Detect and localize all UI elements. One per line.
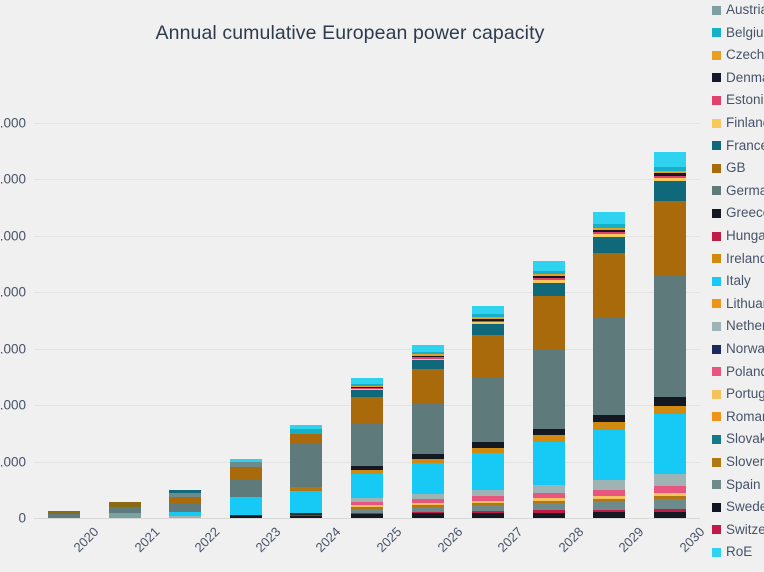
plot-area [34,66,700,518]
bar-segment-france[interactable] [533,283,565,297]
legend-label: Portugal [726,386,764,402]
x-axis-tick-label-2029: 2029 [616,524,647,555]
legend-item-germany[interactable]: Germany [712,183,764,199]
legend-item-greece[interactable]: Greece [712,205,764,221]
legend-swatch-icon [712,209,721,218]
bar-segment-netherlands[interactable] [593,480,625,490]
bar-segment-roe[interactable] [472,306,504,314]
bar-segment-germany[interactable] [593,317,625,415]
bar-segment-gb[interactable] [290,434,322,444]
legend-item-portugal[interactable]: Portugal [712,386,764,402]
bar-segment-germany[interactable] [654,276,686,397]
legend-swatch-icon [712,254,721,263]
bar-segment-germany[interactable] [472,378,504,442]
bar-segment-italy[interactable] [533,442,565,485]
legend-item-switzerland[interactable]: Switzerland [712,522,764,538]
bar-2029[interactable] [593,196,625,518]
bar-segment-ireland[interactable] [654,406,686,415]
legend-label: Austria [726,2,764,18]
bar-segment-netherlands[interactable] [472,490,504,497]
legend-label: Germany [726,183,764,199]
legend-swatch-icon [712,28,721,37]
bar-segment-france[interactable] [593,237,625,253]
bar-segment-italy[interactable] [472,453,504,489]
legend-label: Italy [726,273,751,289]
legend-label: Hungary [726,228,764,244]
legend-item-estonia[interactable]: Estonia [712,92,764,108]
legend-item-gb[interactable]: GB [712,160,746,176]
legend-swatch-icon [712,322,721,331]
legend-item-denmark[interactable]: Denmark [712,70,764,86]
bar-2028[interactable] [533,251,565,518]
legend-item-ireland[interactable]: Ireland [712,251,764,267]
legend-swatch-icon [712,458,721,467]
legend-item-hungary[interactable]: Hungary [712,228,764,244]
legend-label: Romania [726,409,764,425]
x-axis-tick-label-2028: 2028 [555,524,586,555]
legend-item-slovakia[interactable]: Slovakia [712,431,764,447]
legend-swatch-icon [712,186,721,195]
legend-label: Ireland [726,251,764,267]
x-axis-tick-label-2024: 2024 [313,524,344,555]
bar-segment-roe[interactable] [533,261,565,271]
legend-item-roe[interactable]: RoE [712,544,752,560]
bar-2020[interactable] [48,511,80,518]
bar-2021[interactable] [109,502,141,518]
bar-segment-france[interactable] [472,324,504,335]
legend-swatch-icon [712,164,721,173]
x-axis-tick-label-2027: 2027 [495,524,526,555]
bar-segment-roe[interactable] [412,345,444,352]
legend-label: France [726,138,764,154]
bar-segment-germany[interactable] [533,349,565,429]
legend-item-norway[interactable]: Norway [712,341,764,357]
bar-segment-germany[interactable] [290,444,322,487]
y-axis-tick-label: 0 [18,511,26,526]
x-axis-tick-label-2026: 2026 [434,524,465,555]
bar-segment-roe[interactable] [593,212,625,224]
bar-segment-netherlands[interactable] [533,485,565,493]
bar-2026[interactable] [412,345,444,518]
legend-swatch-icon [712,480,721,489]
bar-segment-ireland[interactable] [593,422,625,430]
bar-2022[interactable] [169,490,201,518]
legend-label: Estonia [726,92,764,108]
legend-item-italy[interactable]: Italy [712,273,751,289]
bar-segment-germany[interactable] [351,423,383,466]
x-axis-tick-label-2020: 2020 [71,524,102,555]
legend-swatch-icon [712,503,721,512]
y-axis: 01.0002.0003.0004.0005.0006.0007.000 [0,66,30,518]
legend-item-france[interactable]: France [712,138,764,154]
bar-2024[interactable] [290,425,322,518]
bar-segment-italy[interactable] [351,474,383,498]
bar-segment-italy[interactable] [412,463,444,494]
y-axis-tick-label: 6.000 [0,172,26,187]
legend-item-poland[interactable]: Poland [712,364,764,380]
bar-segment-france[interactable] [654,181,686,200]
legend-swatch-icon [712,390,721,399]
legend-label: Greece [726,205,764,221]
bar-segment-spain[interactable] [533,503,565,510]
legend-label: Poland [726,364,764,380]
chart-title: Annual cumulative European power capacit… [0,22,700,45]
legend-item-spain[interactable]: Spain [712,477,761,493]
y-axis-tick-label: 4.000 [0,285,26,300]
bar-segment-poland[interactable] [654,486,686,493]
bar-segment-gb[interactable] [230,467,262,478]
x-axis-tick-label-2022: 2022 [192,524,223,555]
legend-swatch-icon [712,412,721,421]
bar-segment-netherlands[interactable] [654,474,686,486]
legend-label: Belgium [726,25,764,41]
bar-2030[interactable] [654,124,686,518]
legend-label: Switzerland [726,522,764,538]
legend-swatch-icon [712,119,721,128]
legend-item-sweden[interactable]: Sweden [712,499,764,515]
legend-swatch-icon [712,141,721,150]
legend-item-lithuania[interactable]: Lithuania [712,296,764,312]
bar-segment-italy[interactable] [230,497,262,515]
legend-swatch-icon [712,277,721,286]
legend-swatch-icon [712,299,721,308]
legend-swatch-icon [712,6,721,15]
legend-label: Slovakia [726,431,764,447]
legend-swatch-icon [712,548,721,557]
bar-segment-ireland[interactable] [533,435,565,442]
legend-label: Denmark [726,70,764,86]
x-axis-tick-label-2025: 2025 [373,524,404,555]
bar-segment-greece[interactable] [654,397,686,405]
legend-swatch-icon [712,435,721,444]
legend-item-romania[interactable]: Romania [712,409,764,425]
legend-swatch-icon [712,96,721,105]
legend-label: Sweden [726,499,764,515]
bar-segment-germany[interactable] [412,403,444,454]
bar-segment-gb[interactable] [412,369,444,403]
legend-swatch-icon [712,232,721,241]
bar-segment-greece[interactable] [593,415,625,422]
x-axis: 2020202120222023202420252026202720282029… [34,518,700,572]
legend-label: Norway [726,341,764,357]
bar-2023[interactable] [230,459,262,518]
legend-label: Slovenia [726,454,764,470]
bar-segment-germany[interactable] [169,503,201,513]
bar-2025[interactable] [351,384,383,518]
legend-item-czechia[interactable]: Czechia [712,47,764,63]
bar-segment-italy[interactable] [290,491,322,514]
bar-segment-france[interactable] [412,360,444,368]
legend-label: RoE [726,544,752,560]
y-axis-tick-label: 5.000 [0,228,26,243]
legend-swatch-icon [712,345,721,354]
bar-segment-roe[interactable] [654,152,686,166]
bar-2027[interactable] [472,301,504,518]
y-axis-tick-label: 3.000 [0,341,26,356]
bar-segment-gb[interactable] [351,397,383,423]
legend-label: Lithuania [726,296,764,312]
legend-label: Czechia [726,47,764,63]
bar-segment-germany[interactable] [230,479,262,498]
chart-legend: AustriaBelgiumCzechiaDenmarkEstoniaFinla… [704,0,764,572]
legend-label: Netherlands [726,318,764,334]
legend-label: Finland [726,115,764,131]
legend-label: Spain [726,477,761,493]
legend-swatch-icon [712,51,721,60]
bar-segment-spain[interactable] [654,499,686,509]
bar-segment-gb[interactable] [533,296,565,349]
x-axis-tick-label-2021: 2021 [131,524,162,555]
legend-item-netherlands[interactable]: Netherlands [712,318,764,334]
legend-swatch-icon [712,367,721,376]
bar-group [34,66,700,518]
y-axis-tick-label: 2.000 [0,398,26,413]
legend-item-austria[interactable]: Austria [712,2,764,18]
bar-segment-italy[interactable] [593,430,625,480]
legend-item-finland[interactable]: Finland [712,115,764,131]
chart-page: Annual cumulative European power capacit… [0,0,764,572]
bar-segment-gb[interactable] [654,201,686,277]
legend-item-belgium[interactable]: Belgium [712,25,764,41]
bar-segment-italy[interactable] [654,414,686,474]
bar-segment-gb[interactable] [593,253,625,316]
x-axis-tick-label-2023: 2023 [252,524,283,555]
y-axis-tick-label: 1.000 [0,454,26,469]
legend-swatch-icon [712,525,721,534]
y-axis-tick-label: 7.000 [0,115,26,130]
legend-swatch-icon [712,73,721,82]
x-axis-tick-label-2030: 2030 [676,524,707,555]
bar-segment-spain[interactable] [593,501,625,509]
legend-item-slovenia[interactable]: Slovenia [712,454,764,470]
legend-label: GB [726,160,746,176]
bar-segment-gb[interactable] [472,335,504,378]
